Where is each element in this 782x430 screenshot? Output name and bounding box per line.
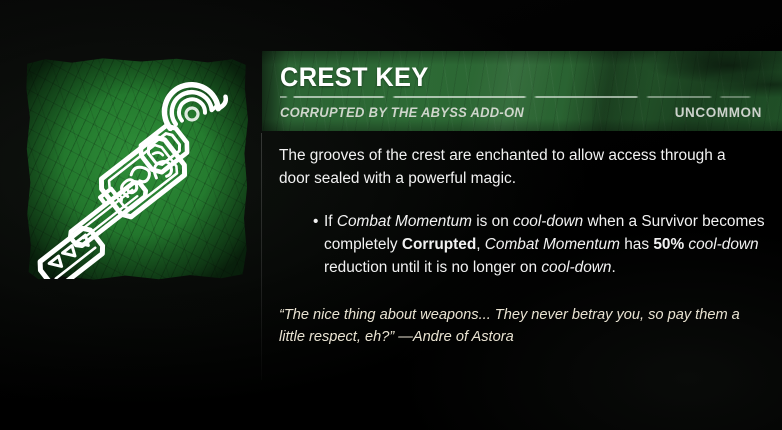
- item-rarity-label: UNCOMMON: [675, 104, 762, 122]
- bullet-text: If Combat Momentum is on cool-down when …: [324, 213, 765, 276]
- item-tooltip-card: CREST KEY CORRUPTED BY THE ABYSS ADD-ON …: [0, 0, 782, 430]
- item-subtitle: CORRUPTED BY THE ABYSS ADD-ON: [280, 104, 524, 122]
- item-description: The grooves of the crest are enchanted t…: [279, 144, 757, 190]
- crest-key-icon: [25, 57, 248, 281]
- item-header-banner: CREST KEY CORRUPTED BY THE ABYSS ADD-ON …: [262, 51, 782, 131]
- list-item: • If Combat Momentum is on cool-down whe…: [279, 210, 765, 279]
- item-icon-panel: [0, 0, 260, 430]
- bullet-marker: •: [313, 210, 318, 233]
- title-separator-rule: [280, 96, 768, 98]
- banner-content: CREST KEY CORRUPTED BY THE ABYSS ADD-ON …: [262, 51, 782, 131]
- item-effect-list: • If Combat Momentum is on cool-down whe…: [279, 210, 765, 279]
- item-body: The grooves of the crest are enchanted t…: [279, 144, 765, 348]
- item-title: CREST KEY: [280, 62, 429, 92]
- item-flavor-text: “The nice thing about weapons... They ne…: [279, 304, 753, 348]
- panel-divider: [261, 133, 262, 380]
- crest-key-glyph: [25, 57, 248, 281]
